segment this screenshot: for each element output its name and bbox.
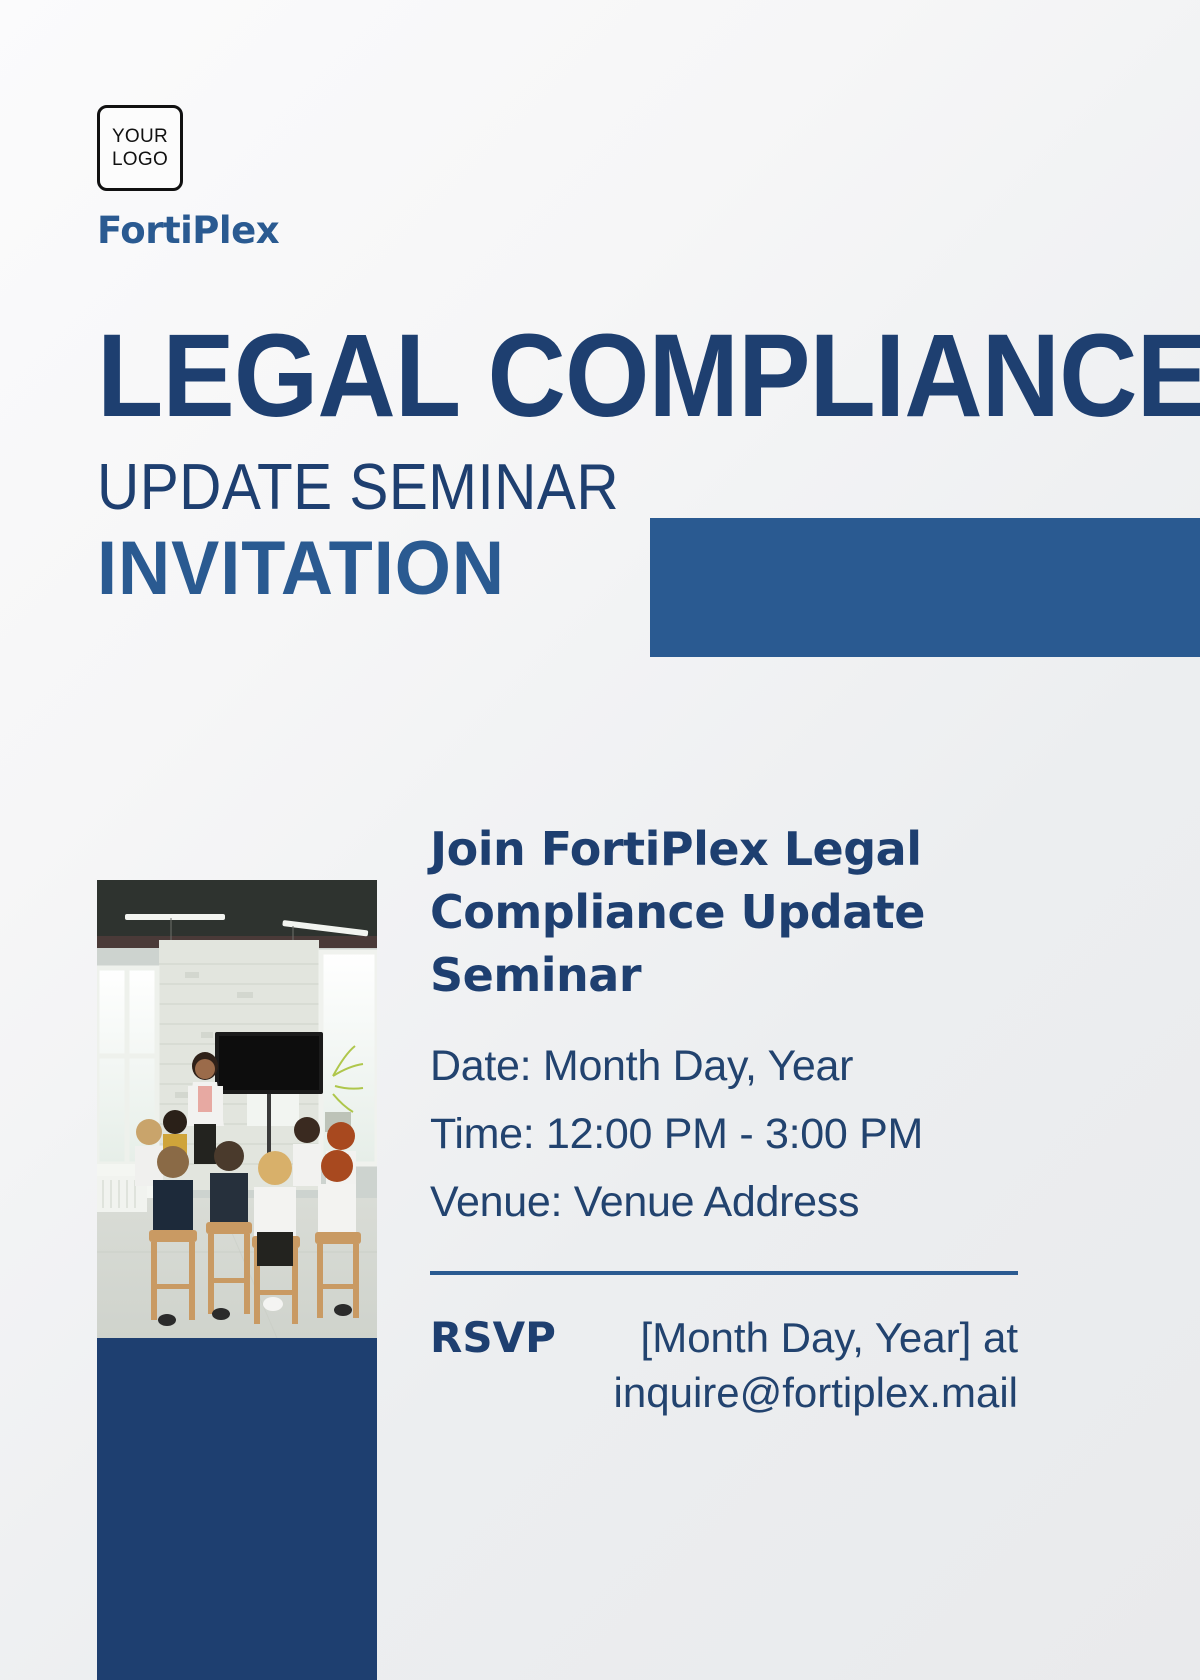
- event-details-panel: Join FortiPlex Legal Compliance Update S…: [430, 818, 1020, 1422]
- logo-text-line-2: LOGO: [112, 148, 168, 171]
- brand-name: FortiPlex: [97, 209, 517, 252]
- rsvp-line-primary: RSVP [Month Day, Year] at: [430, 1311, 1018, 1366]
- invitation-poster: YOUR LOGO FortiPlex LEGAL COMPLIANCE UPD…: [0, 0, 1200, 1680]
- seminar-photo: [97, 880, 377, 1338]
- headline-subtitle: UPDATE SEMINAR: [97, 454, 1006, 519]
- logo-placeholder: YOUR LOGO: [97, 105, 183, 191]
- event-title: Join FortiPlex Legal Compliance Update S…: [430, 818, 1020, 1007]
- detail-date: Date: Month Day, Year: [430, 1033, 1020, 1101]
- accent-bar: [650, 518, 1200, 657]
- logo-text-line-1: YOUR: [112, 125, 168, 148]
- brand-block: YOUR LOGO FortiPlex: [97, 105, 517, 252]
- event-detail-list: Date: Month Day, Year Time: 12:00 PM - 3…: [430, 1033, 1020, 1237]
- page-title: LEGAL COMPLIANCE: [97, 322, 1026, 432]
- detail-venue: Venue: Venue Address: [430, 1169, 1020, 1237]
- rsvp-block: RSVP [Month Day, Year] at inquire@fortip…: [430, 1311, 1018, 1422]
- rsvp-label: RSVP: [430, 1311, 556, 1366]
- rsvp-email[interactable]: inquire@fortiplex.mail: [430, 1365, 1018, 1422]
- section-divider: [430, 1271, 1018, 1275]
- detail-time: Time: 12:00 PM - 3:00 PM: [430, 1101, 1020, 1169]
- navy-color-block: [97, 1338, 377, 1680]
- rsvp-deadline: [Month Day, Year] at: [641, 1314, 1018, 1361]
